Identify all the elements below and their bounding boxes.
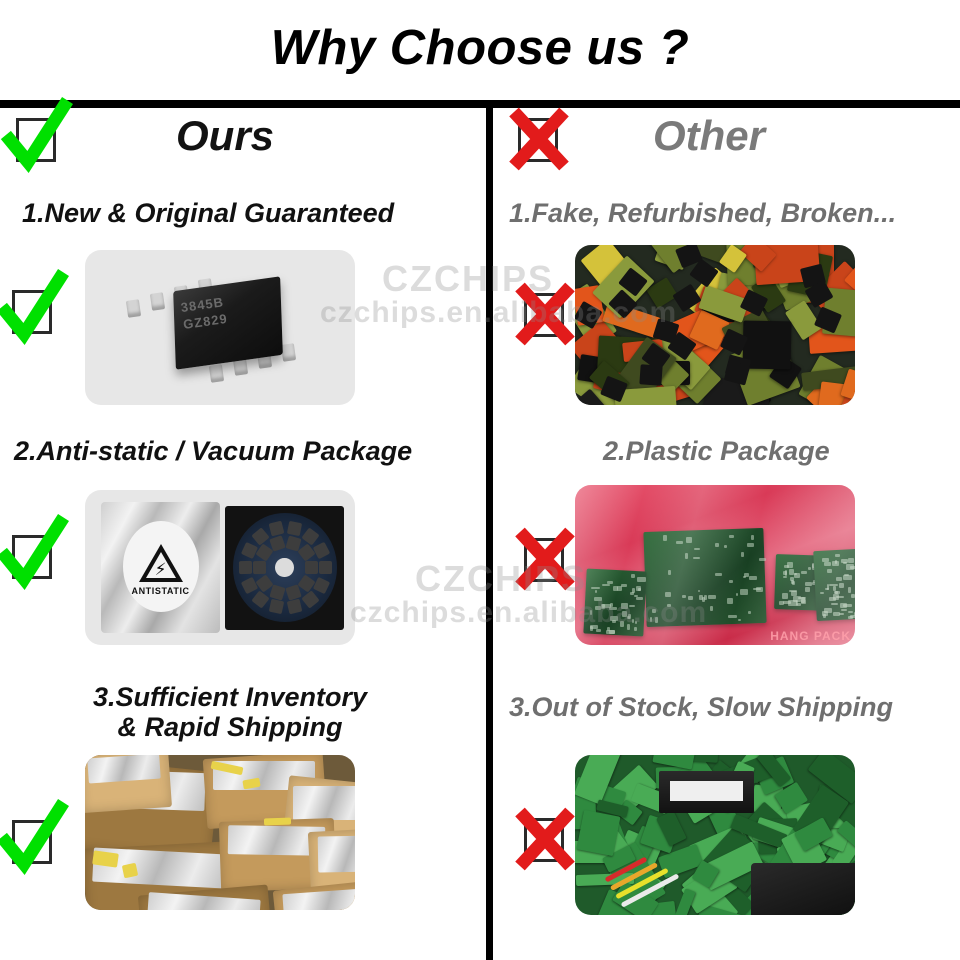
antistatic-bag: ⚡ ANTISTATIC [101, 502, 220, 632]
why-choose-us-infographic: Why Choose us ? Ours Other 1.New & Origi… [0, 0, 960, 960]
row-1-other-photo [575, 245, 855, 405]
cross-mark-icon [512, 524, 578, 594]
component-reel [225, 506, 344, 630]
check-mark-icon [4, 104, 70, 174]
header-divider-line [0, 100, 960, 108]
row-3-other: 3.Out of Stock, Slow Shipping [493, 670, 960, 960]
row-3-check-mark [12, 820, 52, 864]
row-2-check-mark [12, 535, 52, 579]
cross-mark-box-header [518, 118, 558, 162]
row-1-cross-mark [524, 293, 564, 337]
check-mark-icon [0, 276, 66, 346]
lightning-bolt-icon: ⚡ [155, 561, 167, 578]
row-2-ours-photo: ⚡ ANTISTATIC [85, 490, 355, 645]
pack-brand-text: HANG PACK [770, 629, 851, 643]
row-2-cross-mark [524, 538, 564, 582]
row-2-ours-caption: 2.Anti-static / Vacuum Package [14, 436, 412, 466]
column-label-ours: Ours [176, 112, 274, 160]
row-2-other: 2.Plastic Package HANG PACK [493, 420, 960, 670]
row-1-other: 1.Fake, Refurbished, Broken... [493, 180, 960, 420]
column-header-ours: Ours [0, 108, 486, 172]
row-3-ours-photo [85, 755, 355, 910]
row-1-ours-caption: 1.New & Original Guaranteed [22, 198, 394, 228]
cross-mark-icon [506, 104, 572, 174]
row-3-ours-caption: 3.Sufficient Inventory & Rapid Shipping [40, 682, 420, 742]
row-3-ours-caption-line1: 3.Sufficient Inventory [93, 682, 367, 712]
check-mark-box-header [16, 118, 56, 162]
row-1-other-caption: 1.Fake, Refurbished, Broken... [509, 198, 896, 228]
row-2-ours: 2.Anti-static / Vacuum Package ⚡ ANTISTA… [0, 420, 486, 670]
row-2-other-caption: 2.Plastic Package [603, 436, 830, 466]
row-1-check-mark [12, 290, 52, 334]
row-3-ours: 3.Sufficient Inventory & Rapid Shipping [0, 670, 486, 960]
row-3: 3.Sufficient Inventory & Rapid Shipping … [0, 670, 960, 960]
antistatic-label: ANTISTATIC [123, 586, 199, 596]
row-2: 2.Anti-static / Vacuum Package ⚡ ANTISTA… [0, 420, 960, 670]
row-3-other-caption: 3.Out of Stock, Slow Shipping [509, 692, 893, 722]
check-mark-icon [0, 521, 66, 591]
page-title: Why Choose us ? [0, 22, 960, 76]
row-3-other-photo [575, 755, 855, 915]
cross-mark-icon [512, 279, 578, 349]
row-3-cross-mark [524, 818, 564, 862]
row-1-ours: 1.New & Original Guaranteed [0, 180, 486, 420]
cross-mark-icon [512, 804, 578, 874]
column-header-other: Other [493, 108, 960, 172]
row-3-ours-caption-line2: & Rapid Shipping [118, 712, 343, 742]
chip-marking-text: 3845B GZ829 [180, 294, 229, 334]
row-1-ours-photo: 3845B GZ829 [85, 250, 355, 405]
row-2-other-photo: HANG PACK [575, 485, 855, 645]
column-label-other: Other [653, 112, 765, 160]
row-1: 1.New & Original Guaranteed [0, 180, 960, 420]
check-mark-icon [0, 806, 66, 876]
